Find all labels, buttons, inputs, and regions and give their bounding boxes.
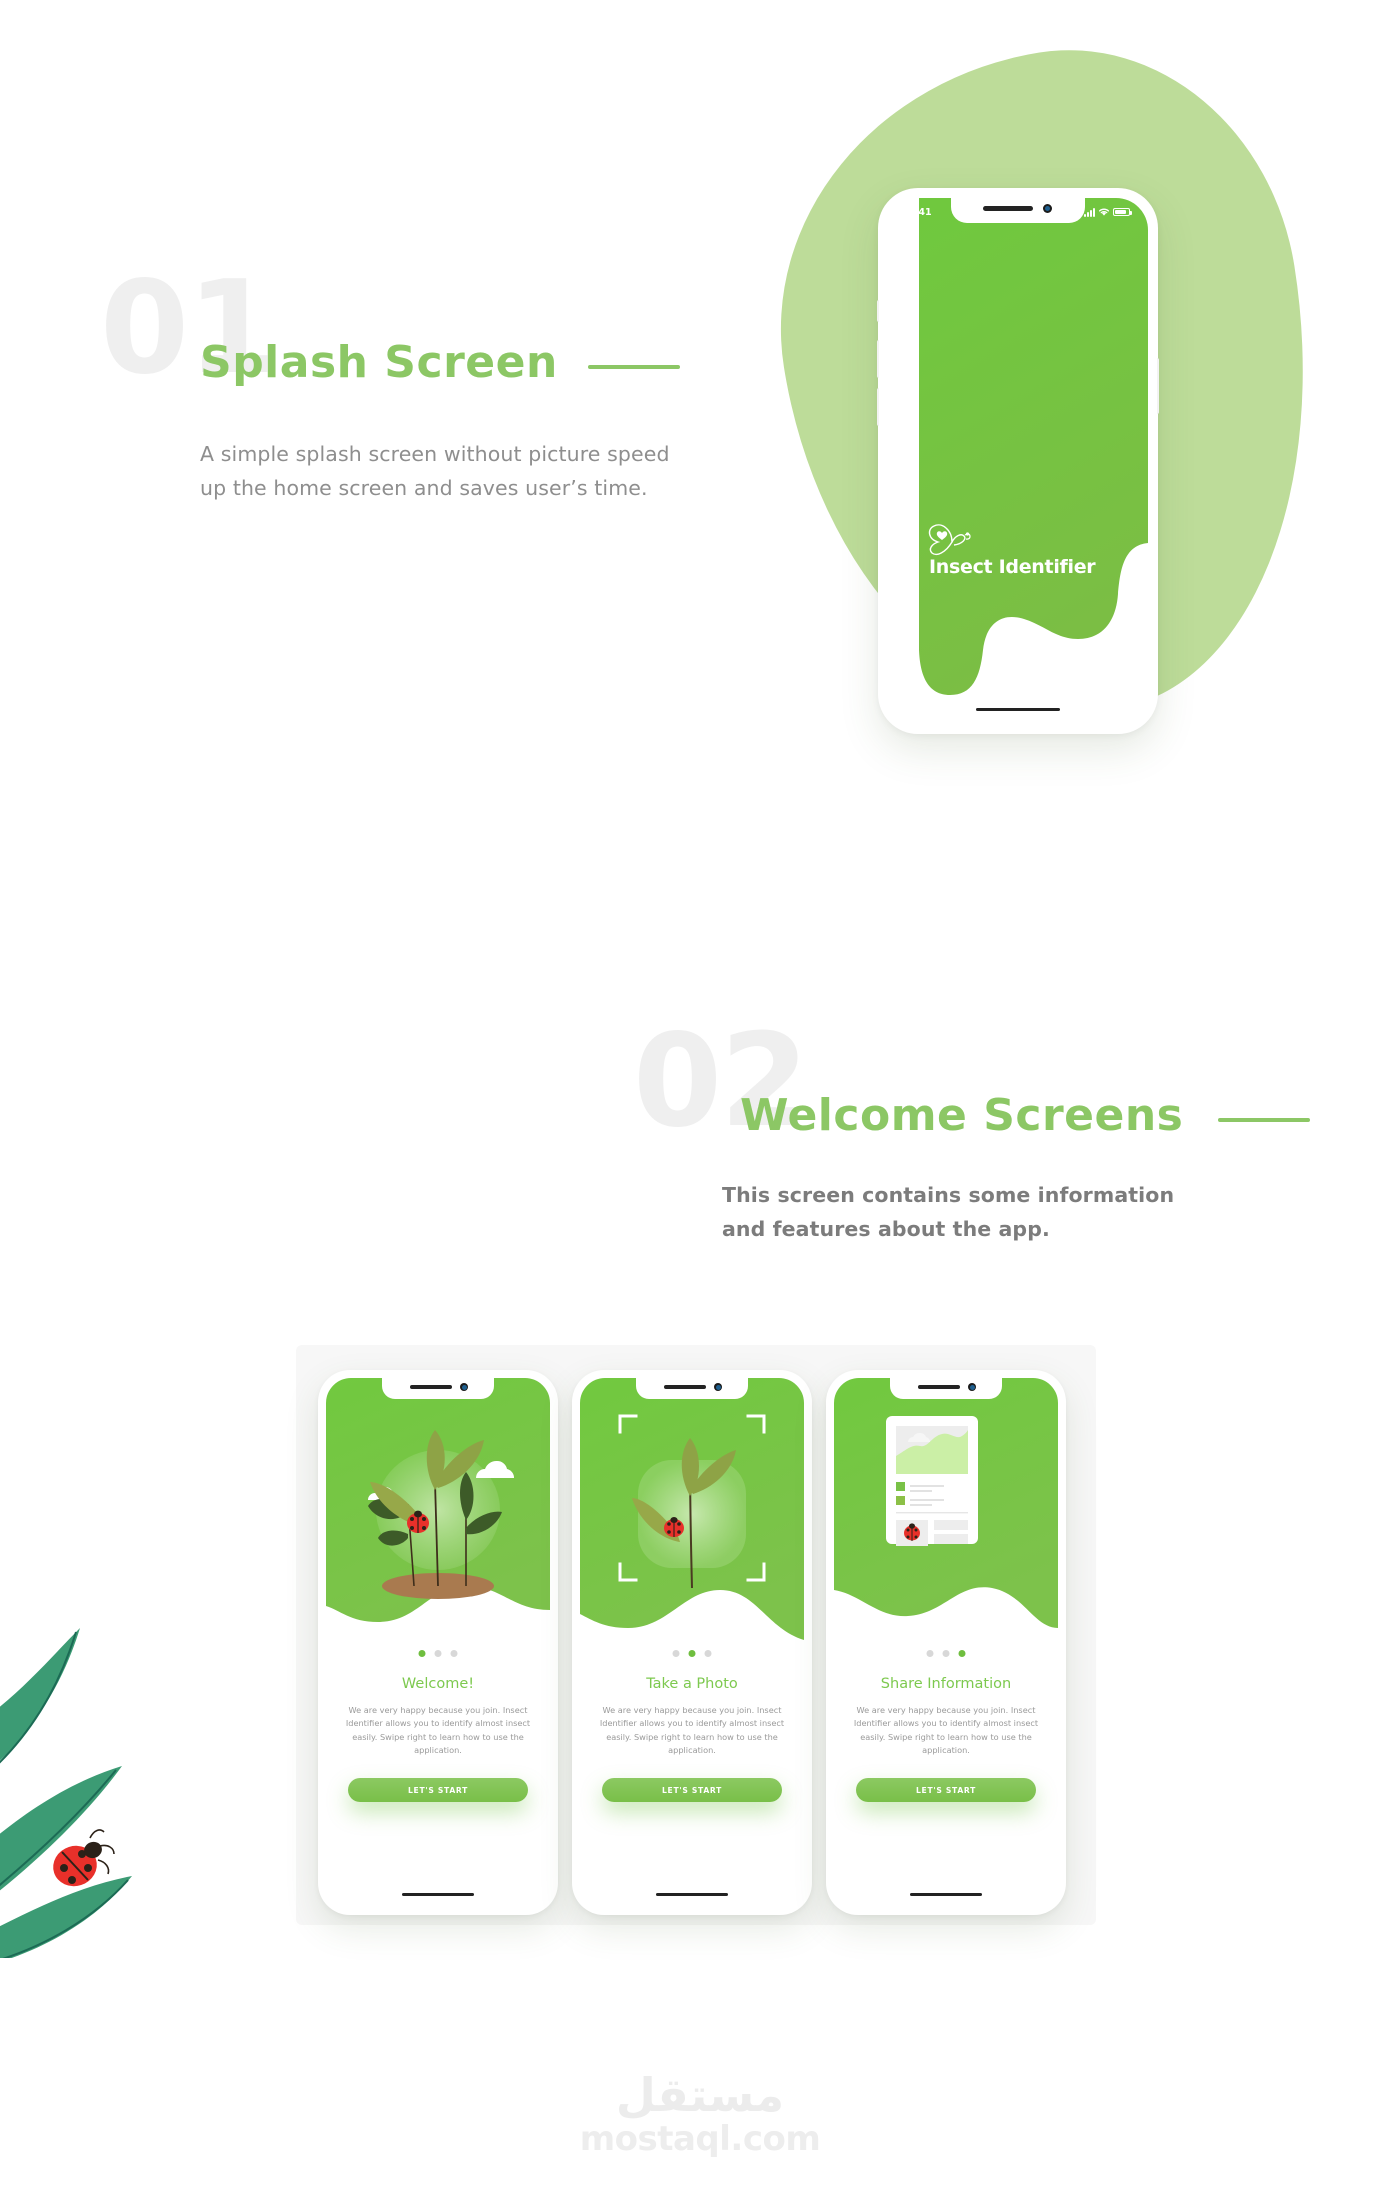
phone-mute-switch xyxy=(877,300,879,322)
page-dot-2[interactable] xyxy=(943,1650,950,1657)
section-splash-screen: 01 Splash Screen A simple splash screen … xyxy=(0,0,1400,820)
welcome-body-3: We are very happy because you join. Inse… xyxy=(852,1704,1040,1757)
section-description-01: A simple splash screen without picture s… xyxy=(200,437,670,505)
wifi-icon xyxy=(1098,207,1110,217)
page-dot-3[interactable] xyxy=(705,1650,712,1657)
home-indicator xyxy=(402,1893,474,1896)
lets-start-button-1[interactable]: LET'S START xyxy=(348,1778,528,1802)
welcome-body-1: We are very happy because you join. Inse… xyxy=(344,1704,532,1757)
cellular-bars-icon xyxy=(1084,208,1095,217)
page-dot-3[interactable] xyxy=(959,1650,966,1657)
welcome-title-2: Take a Photo xyxy=(580,1676,804,1692)
page-dot-1[interactable] xyxy=(419,1650,426,1657)
welcome-illustration-3 xyxy=(834,1378,1058,1642)
phone-notch xyxy=(890,1378,1002,1399)
earpiece-speaker xyxy=(410,1385,452,1389)
splash-phone-mockup: 9:41 xyxy=(878,188,1158,734)
page-dot-3[interactable] xyxy=(451,1650,458,1657)
page-dot-2[interactable] xyxy=(435,1650,442,1657)
welcome-title-1: Welcome! xyxy=(326,1676,550,1692)
page-dot-2[interactable] xyxy=(689,1650,696,1657)
welcome-title-3: Share Information xyxy=(834,1676,1058,1692)
home-indicator xyxy=(976,708,1060,712)
phone-volume-down-button xyxy=(877,388,879,426)
front-camera-icon xyxy=(460,1383,468,1391)
lets-start-button-2[interactable]: LET'S START xyxy=(602,1778,782,1802)
section-description-02: This screen contains some information an… xyxy=(722,1178,1192,1246)
home-indicator xyxy=(910,1893,982,1896)
title-divider-02 xyxy=(1218,1118,1310,1122)
front-camera-icon xyxy=(714,1383,722,1391)
lets-start-button-3[interactable]: LET'S START xyxy=(856,1778,1036,1802)
status-time: 9:41 xyxy=(908,207,932,218)
page-indicator-dots-2[interactable] xyxy=(673,1650,712,1657)
battery-icon xyxy=(1113,208,1130,216)
splash-phone-screen: 9:41 xyxy=(888,198,1148,724)
front-camera-icon xyxy=(968,1383,976,1391)
mostaql-arabic-wordmark: مستقل xyxy=(0,2070,1400,2121)
app-logo-block: Insect Identifier xyxy=(922,520,1095,578)
title-divider-01 xyxy=(588,365,680,369)
mostaql-domain-label: mostaql.com xyxy=(0,2119,1400,2159)
welcome-phone-3-screen: Share Information We are very happy beca… xyxy=(834,1378,1058,1907)
welcome-phone-2-screen: Take a Photo We are very happy because y… xyxy=(580,1378,804,1907)
welcome-illustration-2 xyxy=(580,1378,804,1642)
earpiece-speaker xyxy=(664,1385,706,1389)
welcome-phone-3: Share Information We are very happy beca… xyxy=(826,1370,1066,1915)
welcome-phone-1: Welcome! We are very happy because you j… xyxy=(318,1370,558,1915)
section-title-02: Welcome Screens xyxy=(740,1090,1183,1141)
leaf-with-ladybug-illustration xyxy=(0,1588,200,1958)
page-indicator-dots-1[interactable] xyxy=(419,1650,458,1657)
welcome-phone-1-screen: Welcome! We are very happy because you j… xyxy=(326,1378,550,1907)
section-title-01: Splash Screen xyxy=(200,337,558,388)
page-indicator-dots-3[interactable] xyxy=(927,1650,966,1657)
app-name-label: Insect Identifier xyxy=(929,556,1095,578)
home-indicator xyxy=(656,1893,728,1896)
phone-power-button xyxy=(1157,358,1159,414)
splash-green-drip-shape xyxy=(888,198,1148,724)
welcome-phone-2: Take a Photo We are very happy because y… xyxy=(572,1370,812,1915)
status-bar: 9:41 xyxy=(888,205,1148,223)
welcome-illustration-1 xyxy=(326,1378,550,1642)
earpiece-speaker xyxy=(918,1385,960,1389)
phone-notch xyxy=(636,1378,748,1399)
page-dot-1[interactable] xyxy=(927,1650,934,1657)
mostaql-footer-logo: مستقل mostaql.com xyxy=(0,2070,1400,2159)
phone-notch xyxy=(382,1378,494,1399)
phone-volume-up-button xyxy=(877,340,879,378)
page-dot-1[interactable] xyxy=(673,1650,680,1657)
butterfly-logo-icon xyxy=(922,520,980,558)
welcome-body-2: We are very happy because you join. Inse… xyxy=(598,1704,786,1757)
